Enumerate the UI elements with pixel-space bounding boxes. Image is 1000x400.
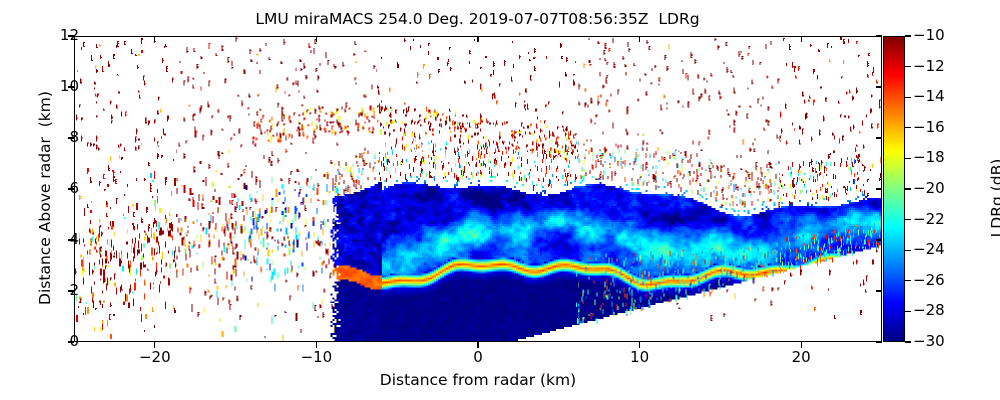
y-tick-label: 6 [69,181,79,196]
x-tick-mark-top [154,36,155,42]
colorbar-tick-mark [905,35,911,36]
radar-figure: LMU miraMACS 254.0 Deg. 2019-07-07T08:56… [0,0,1000,400]
colorbar-tick-mark [905,97,911,98]
colorbar-tick-label: −22 [913,212,945,227]
y-tick-label: 10 [60,79,79,94]
colorbar-tick-label: −24 [913,242,945,257]
colorbar-tick-mark [905,188,911,189]
y-tick-mark-right [876,86,882,87]
colorbar-tick-label: −12 [913,59,945,74]
x-tick-label: 20 [771,350,831,365]
x-tick-mark-top [477,36,478,42]
colorbar-tick-label: −10 [913,28,945,43]
colorbar-tick-mark [905,66,911,67]
colorbar-tick-mark [905,219,911,220]
colorbar-tick-label: −18 [913,150,945,165]
colorbar-tick-label: −28 [913,303,945,318]
y-tick-label: 0 [69,334,79,349]
colorbar-tick-mark [905,280,911,281]
x-tick-label: −10 [286,350,346,365]
colorbar-tick-mark [905,158,911,159]
x-tick-mark-top [316,36,317,42]
y-tick-mark-right [876,188,882,189]
y-axis-label: Distance Above radar (km) [36,45,54,351]
colorbar[interactable] [883,36,905,342]
colorbar-gradient [883,36,905,342]
y-tick-mark-right [876,35,882,36]
x-tick-label: −20 [125,350,185,365]
colorbar-tick-label: −26 [913,273,945,288]
y-tick-label: 12 [60,28,79,43]
x-tick-mark-top [801,36,802,42]
colorbar-tick-label: −14 [913,89,945,104]
colorbar-label: LDRg (dB) [988,45,1000,351]
radar-heatmap-canvas [75,37,881,341]
y-tick-mark-right [876,290,882,291]
colorbar-tick-mark [905,311,911,312]
x-tick-label: 10 [610,350,670,365]
colorbar-tick-label: −30 [913,334,945,349]
colorbar-tick-mark [905,341,911,342]
x-tick-label: 0 [448,350,508,365]
y-tick-label: 8 [69,130,79,145]
x-tick-mark-top [639,36,640,42]
page-title: LMU miraMACS 254.0 Deg. 2019-07-07T08:56… [0,10,955,28]
y-tick-mark-right [876,137,882,138]
y-tick-label: 4 [69,232,79,247]
plot-area[interactable] [74,36,882,342]
colorbar-tick-mark [905,250,911,251]
colorbar-tick-label: −20 [913,181,945,196]
colorbar-tick-mark [905,127,911,128]
y-tick-label: 2 [69,283,79,298]
y-tick-mark-right [876,239,882,240]
x-axis-label: Distance from radar (km) [74,371,882,389]
y-tick-mark-right [876,341,882,342]
colorbar-tick-label: −16 [913,120,945,135]
